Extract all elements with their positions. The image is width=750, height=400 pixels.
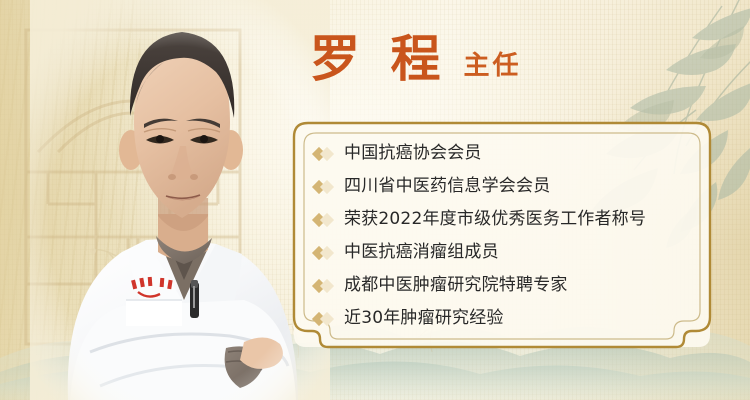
doctor-name: 罗 程 xyxy=(310,34,450,84)
credential-text: 四川省中医药信息学会会员 xyxy=(344,178,550,195)
credential-text: 中国抗癌协会会员 xyxy=(344,145,482,162)
credential-text: 中医抗癌消瘤组成员 xyxy=(344,244,499,261)
list-item: 中医抗癌消瘤组成员 xyxy=(314,236,698,269)
list-item: 荣获2022年度市级优秀医务工作者称号 xyxy=(314,203,698,236)
credential-text: 荣获2022年度市级优秀医务工作者称号 xyxy=(344,211,646,228)
diamond-bullet-icon xyxy=(314,312,336,326)
diamond-bullet-icon xyxy=(314,180,336,194)
doctor-role: 主任 xyxy=(464,53,522,79)
page-title: 罗 程 主任 xyxy=(310,34,522,100)
diamond-bullet-icon xyxy=(314,213,336,227)
credentials-card: 中国抗癌协会会员 四川省中医药信息学会会员 荣获2022年度市级优秀医务工作者称… xyxy=(292,121,712,349)
diamond-bullet-icon xyxy=(314,147,336,161)
list-item: 近30年肿瘤研究经验 xyxy=(314,302,698,335)
list-item: 成都中医肿瘤研究院特聘专家 xyxy=(314,269,698,302)
credential-text: 近30年肿瘤研究经验 xyxy=(344,310,504,327)
list-item: 中国抗癌协会会员 xyxy=(314,137,698,170)
credentials-list: 中国抗癌协会会员 四川省中医药信息学会会员 荣获2022年度市级优秀医务工作者称… xyxy=(314,137,698,335)
list-item: 四川省中医药信息学会会员 xyxy=(314,170,698,203)
diamond-bullet-icon xyxy=(314,246,336,260)
credential-text: 成都中医肿瘤研究院特聘专家 xyxy=(344,277,568,294)
diamond-bullet-icon xyxy=(314,279,336,293)
doctor-profile-banner: 罗 程 主任 中国抗癌协会会员 四川省中医药信息学会会员 xyxy=(0,0,750,400)
doctor-portrait xyxy=(30,0,330,400)
